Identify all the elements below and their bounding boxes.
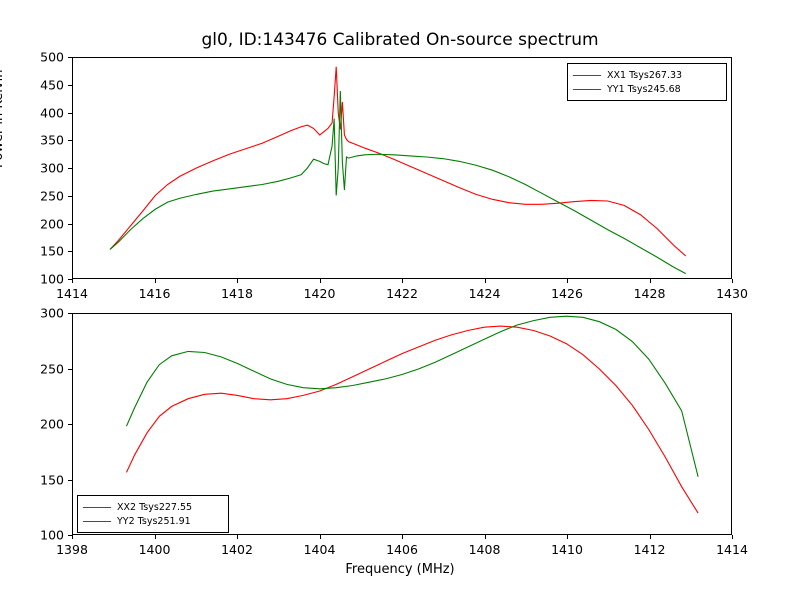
- bottom-panel-legend: XX2 Tsys227.55YY2 Tsys251.91: [77, 495, 229, 533]
- y-tick-mark: [68, 140, 72, 141]
- x-tick-mark: [320, 535, 321, 539]
- y-tick-label: 300: [26, 306, 64, 321]
- x-tick-label: 1414: [56, 286, 88, 301]
- x-tick-label: 1428: [634, 286, 666, 301]
- x-tick-label: 1430: [716, 286, 748, 301]
- y-tick-label: 200: [26, 417, 64, 432]
- y-tick-label: 400: [26, 105, 64, 120]
- legend-entry: XX2 Tsys227.55: [83, 500, 222, 514]
- x-tick-mark: [155, 279, 156, 283]
- y-tick-mark: [68, 424, 72, 425]
- y-tick-mark: [68, 57, 72, 58]
- y-tick-label: 500: [26, 50, 64, 65]
- y-tick-mark: [68, 113, 72, 114]
- x-tick-mark: [650, 279, 651, 283]
- x-tick-label: 1420: [304, 286, 336, 301]
- x-tick-label: 1406: [386, 542, 418, 557]
- x-axis-label-bottom: Frequency (MHz): [0, 562, 800, 577]
- y-tick-mark: [68, 279, 72, 280]
- chart-title: gl0, ID:143476 Calibrated On-source spec…: [0, 30, 800, 50]
- y-tick-label: 100: [26, 272, 64, 287]
- y-tick-mark: [68, 85, 72, 86]
- legend-line-swatch: [83, 507, 111, 508]
- y-tick-mark: [68, 313, 72, 314]
- x-tick-mark: [650, 535, 651, 539]
- x-tick-label: 1410: [551, 542, 583, 557]
- x-tick-mark: [72, 279, 73, 283]
- y-tick-label: 150: [26, 244, 64, 259]
- y-tick-label: 350: [26, 133, 64, 148]
- x-tick-label: 1424: [469, 286, 501, 301]
- x-tick-label: 1426: [551, 286, 583, 301]
- figure-canvas: gl0, ID:143476 Calibrated On-source spec…: [0, 0, 800, 600]
- x-tick-mark: [732, 535, 733, 539]
- y-tick-label: 250: [26, 188, 64, 203]
- x-tick-mark: [402, 535, 403, 539]
- x-tick-mark: [485, 279, 486, 283]
- legend-entry: YY1 Tsys245.68: [573, 82, 720, 96]
- x-tick-mark: [485, 535, 486, 539]
- y-tick-mark: [68, 196, 72, 197]
- y-tick-label: 450: [26, 77, 64, 92]
- x-tick-label: 1416: [139, 286, 171, 301]
- y-tick-label: 150: [26, 472, 64, 487]
- x-tick-label: 1422: [386, 286, 418, 301]
- y-tick-label: 200: [26, 216, 64, 231]
- x-tick-mark: [72, 535, 73, 539]
- legend-line-swatch: [83, 521, 111, 522]
- x-tick-label: 1408: [469, 542, 501, 557]
- y-tick-mark: [68, 168, 72, 169]
- x-tick-label: 1412: [634, 542, 666, 557]
- y-tick-label: 300: [26, 161, 64, 176]
- x-tick-mark: [155, 535, 156, 539]
- legend-line-swatch: [573, 89, 601, 90]
- legend-line-swatch: [573, 75, 601, 76]
- x-tick-mark: [402, 279, 403, 283]
- top-panel-legend: XX1 Tsys267.33YY1 Tsys245.68: [567, 63, 727, 101]
- x-tick-mark: [320, 279, 321, 283]
- legend-label: XX2 Tsys227.55: [117, 502, 192, 513]
- x-tick-label: 1402: [221, 542, 253, 557]
- y-tick-mark: [68, 224, 72, 225]
- y-tick-mark: [68, 480, 72, 481]
- x-tick-label: 1414: [716, 542, 748, 557]
- y-tick-mark: [68, 251, 72, 252]
- x-tick-mark: [567, 535, 568, 539]
- x-tick-mark: [237, 535, 238, 539]
- legend-label: XX1 Tsys267.33: [607, 70, 682, 81]
- y-tick-label: 100: [26, 528, 64, 543]
- legend-entry: XX1 Tsys267.33: [573, 68, 720, 82]
- legend-label: YY1 Tsys245.68: [607, 84, 681, 95]
- x-tick-label: 1418: [221, 286, 253, 301]
- y-tick-label: 250: [26, 361, 64, 376]
- x-tick-mark: [732, 279, 733, 283]
- x-tick-label: 1398: [56, 542, 88, 557]
- y-tick-mark: [68, 535, 72, 536]
- x-tick-mark: [237, 279, 238, 283]
- x-tick-label: 1404: [304, 542, 336, 557]
- y-axis-label-top: Power in Kelvin: [0, 70, 6, 168]
- legend-label: YY2 Tsys251.91: [117, 516, 191, 527]
- x-tick-label: 1400: [139, 542, 171, 557]
- legend-entry: YY2 Tsys251.91: [83, 514, 222, 528]
- x-tick-mark: [567, 279, 568, 283]
- y-tick-mark: [68, 369, 72, 370]
